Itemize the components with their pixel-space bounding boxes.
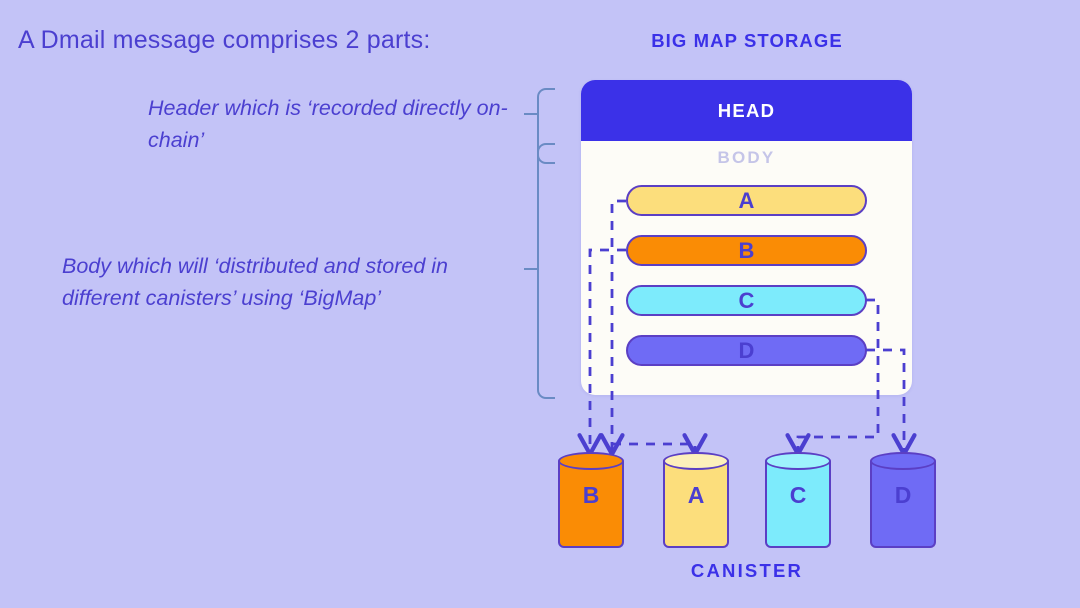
canister-b-top [558, 452, 624, 470]
canister-a-label: A [663, 482, 729, 509]
canister-a[interactable]: A [663, 452, 729, 548]
canister-c[interactable]: C [765, 452, 831, 548]
annotation-header-note: Header which is ‘recorded directly on-ch… [148, 93, 530, 156]
canister-d-top [870, 452, 936, 470]
segment-d-label: D [739, 338, 755, 364]
segment-d[interactable]: D [626, 335, 867, 366]
canister-b-label: B [558, 482, 624, 509]
canister-c-top [765, 452, 831, 470]
segment-a-label: A [739, 188, 755, 214]
body-label: BODY [581, 148, 912, 168]
wire-a-branch [612, 444, 695, 452]
canister-b[interactable]: B [558, 452, 624, 548]
canister-d-label: D [870, 482, 936, 509]
segment-a[interactable]: A [626, 185, 867, 216]
canister-a-top [663, 452, 729, 470]
canister-c-label: C [765, 482, 831, 509]
segment-c-label: C [739, 288, 755, 314]
storage-title: BIG MAP STORAGE [582, 30, 912, 52]
diagram-canvas: A Dmail message comprises 2 parts: Heade… [0, 0, 1080, 608]
bracket-head-tick [524, 113, 537, 115]
bracket-body [537, 143, 555, 399]
bracket-body-tick [524, 268, 537, 270]
segment-b-label: B [739, 238, 755, 264]
page-title: A Dmail message comprises 2 parts: [18, 26, 431, 55]
segment-b[interactable]: B [626, 235, 867, 266]
segment-c[interactable]: C [626, 285, 867, 316]
head-band: HEAD [581, 80, 912, 141]
canister-d[interactable]: D [870, 452, 936, 548]
annotation-body-note: Body which will ‘distributed and stored … [62, 251, 530, 314]
canister-group-label: CANISTER [582, 560, 912, 582]
big-map-storage-card: HEAD BODY A B C D [581, 80, 912, 395]
